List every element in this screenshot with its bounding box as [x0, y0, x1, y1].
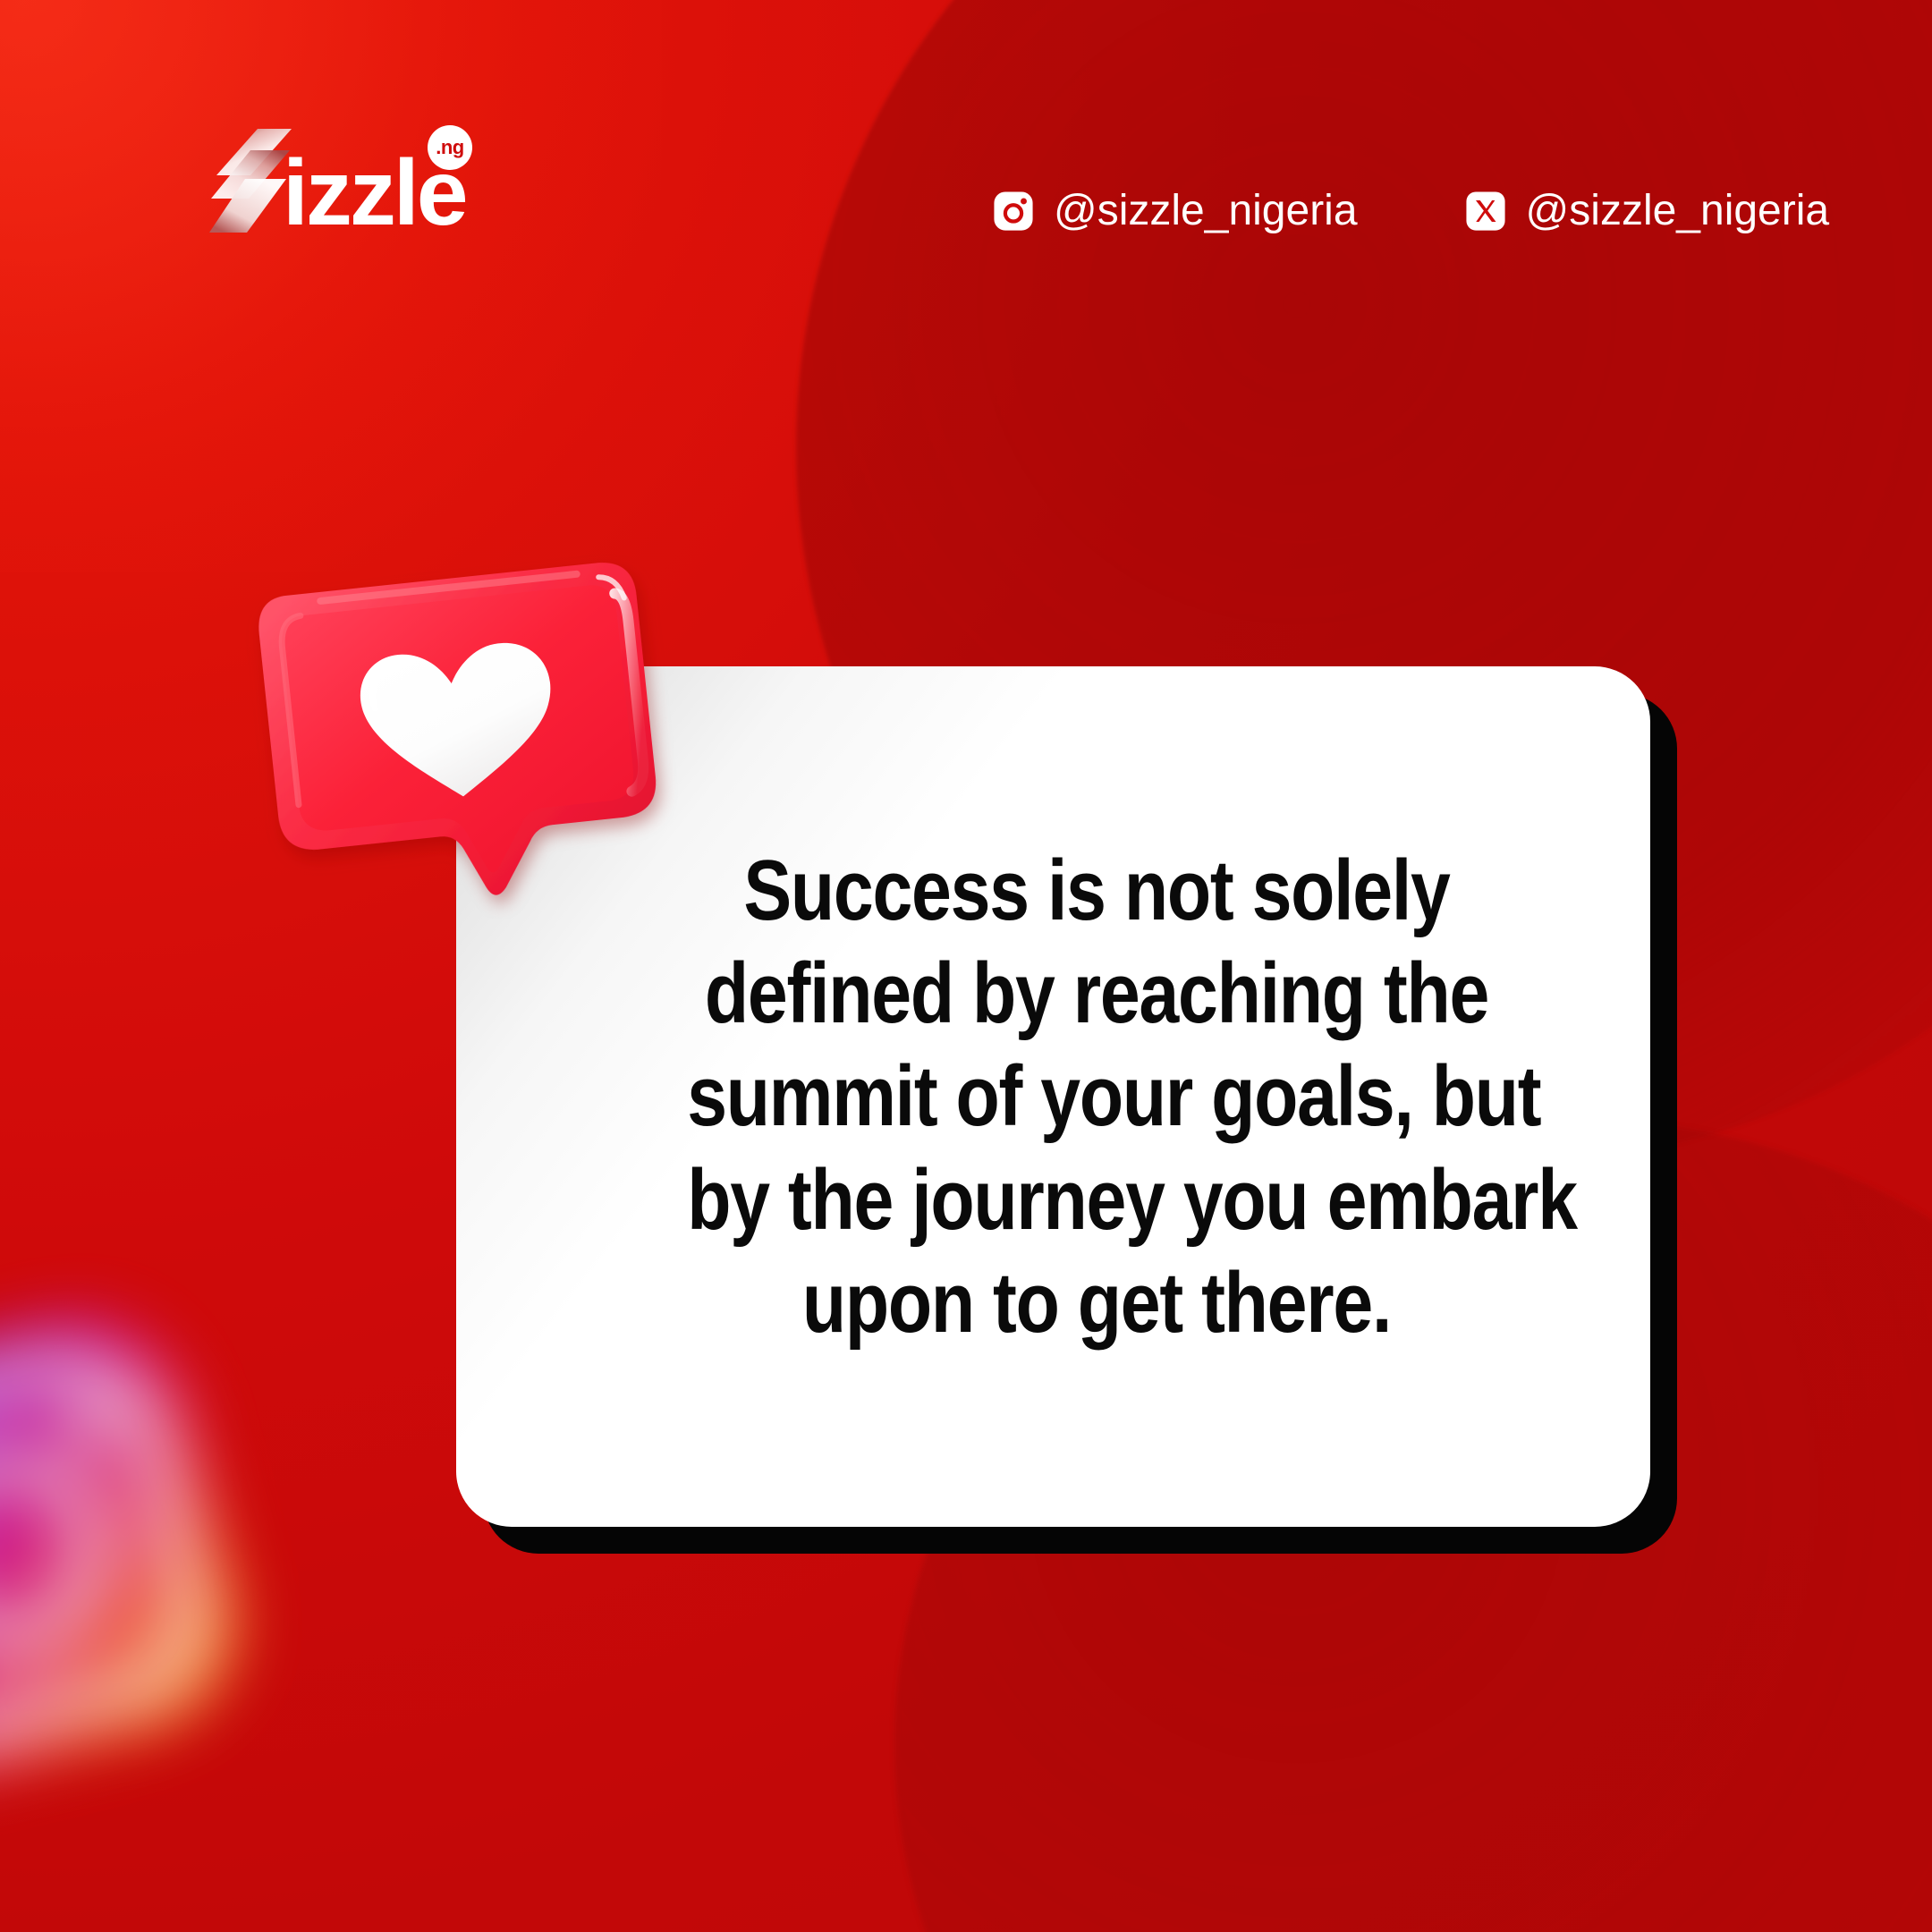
social-instagram[interactable]: @sizzle_nigeria [993, 186, 1358, 235]
x-twitter-icon [1465, 191, 1506, 232]
logo-domain-badge: .ng [428, 125, 472, 170]
quote-line: upon to get there. [687, 1251, 1506, 1354]
instagram-handle: @sizzle_nigeria [1054, 186, 1358, 235]
x-handle: @sizzle_nigeria [1526, 186, 1830, 235]
brand-logo[interactable]: izzle [204, 134, 466, 233]
quote-line: summit of your goals, but [687, 1045, 1506, 1148]
poster-canvas: izzle .ng @sizzle_nigeria @sizzle_nigeri… [0, 0, 1932, 1932]
social-x[interactable]: @sizzle_nigeria [1465, 186, 1830, 235]
quote-line: by the journey you embark [687, 1148, 1506, 1251]
quote-text: Success is not solely defined by reachin… [687, 839, 1506, 1354]
quote-line: defined by reaching the [687, 942, 1506, 1045]
quote-line: Success is not solely [687, 839, 1506, 942]
logo-domain-badge-label: .ng [436, 138, 464, 157]
instagram-icon [993, 191, 1034, 232]
heart-like-bubble-icon [235, 532, 693, 959]
background-corner-glow [0, 0, 662, 572]
social-handles: @sizzle_nigeria @sizzle_nigeria [993, 186, 1829, 235]
